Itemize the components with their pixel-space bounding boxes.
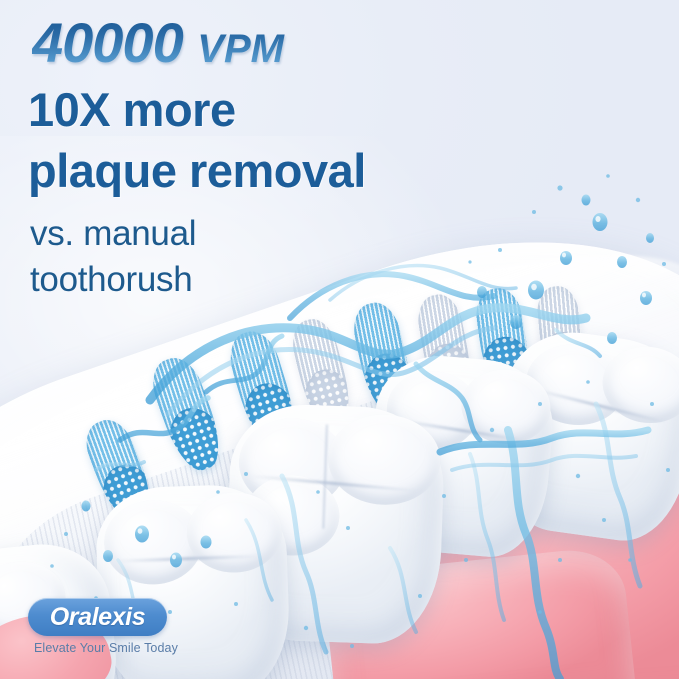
product-marketing-image: 40000 VPM 10X more plaque removal vs. ma… [0,0,679,679]
benefit-headline: 10X more plaque removal [28,79,498,201]
comparison-subcopy: vs. manual toothorush [30,211,498,302]
logo-pill: Oralexis [28,598,167,636]
brand-tagline: Elevate Your Smile Today [34,641,218,655]
benefit-line-1: 10X more [28,83,236,136]
brand-logo: Oralexis Elevate Your Smile Today [28,598,218,655]
brand-name: Oralexis [50,605,145,630]
benefit-line-2: plaque removal [28,140,498,201]
headline-copy-block: 40000 VPM 10X more plaque removal vs. ma… [28,14,498,302]
comparison-line-2: toothorush [30,257,498,303]
comparison-line-1: vs. manual [30,211,498,257]
tooth-cusp [186,491,284,574]
vpm-unit: VPM [197,27,284,71]
vpm-number: 40000 [32,11,183,74]
vpm-headline: 40000 VPM [32,14,498,71]
